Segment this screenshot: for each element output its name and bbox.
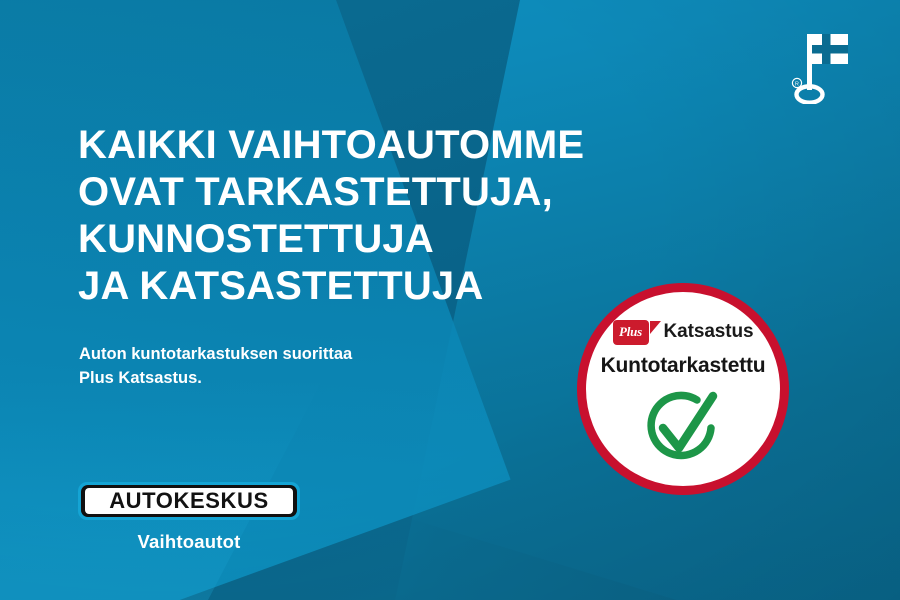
plus-logo-mark: Plus [613, 320, 649, 345]
subtitle-line-1: Auton kuntotarkastuksen suorittaa [79, 342, 499, 366]
logo-tagline: Vaihtoautot [78, 531, 300, 553]
headline-line-4: JA KATSASTETTUJA [78, 263, 698, 310]
avainlippu-key-flag-icon: R [782, 26, 854, 104]
badge-brand-name: Katsastus [664, 321, 754, 343]
marketing-banner: R KAIKKI VAIHTOAUTOMME OVAT TARKASTETTUJ… [0, 0, 900, 600]
logo-plate-text: AUTOKESKUS [109, 490, 269, 512]
svg-text:R: R [795, 82, 799, 88]
subtitle-line-2: Plus Katsastus. [79, 366, 499, 390]
autokeskus-logo[interactable]: AUTOKESKUS Vaihtoautot [78, 482, 306, 553]
logo-plate: AUTOKESKUS [78, 482, 300, 520]
badge-title: Kuntotarkastettu [601, 354, 766, 378]
plus-katsastus-logo: Plus Katsastus [613, 319, 754, 345]
logo-plate-face: AUTOKESKUS [85, 488, 293, 514]
headline-line-2: OVAT TARKASTETTUJA, [78, 169, 698, 216]
headline-line-1: KAIKKI VAIHTOAUTOMME [78, 122, 698, 169]
headline-line-3: KUNNOSTETTUJA [78, 216, 698, 263]
plus-logo-tail-icon [650, 321, 661, 334]
subtitle: Auton kuntotarkastuksen suorittaa Plus K… [79, 342, 499, 390]
kuntotarkastettu-badge: Plus Katsastus Kuntotarkastettu [577, 283, 789, 495]
green-check-circle-icon [635, 384, 731, 468]
headline: KAIKKI VAIHTOAUTOMME OVAT TARKASTETTUJA,… [78, 122, 698, 310]
logo-plate-frame: AUTOKESKUS [81, 485, 297, 517]
plus-logo-text: Plus [619, 324, 642, 340]
